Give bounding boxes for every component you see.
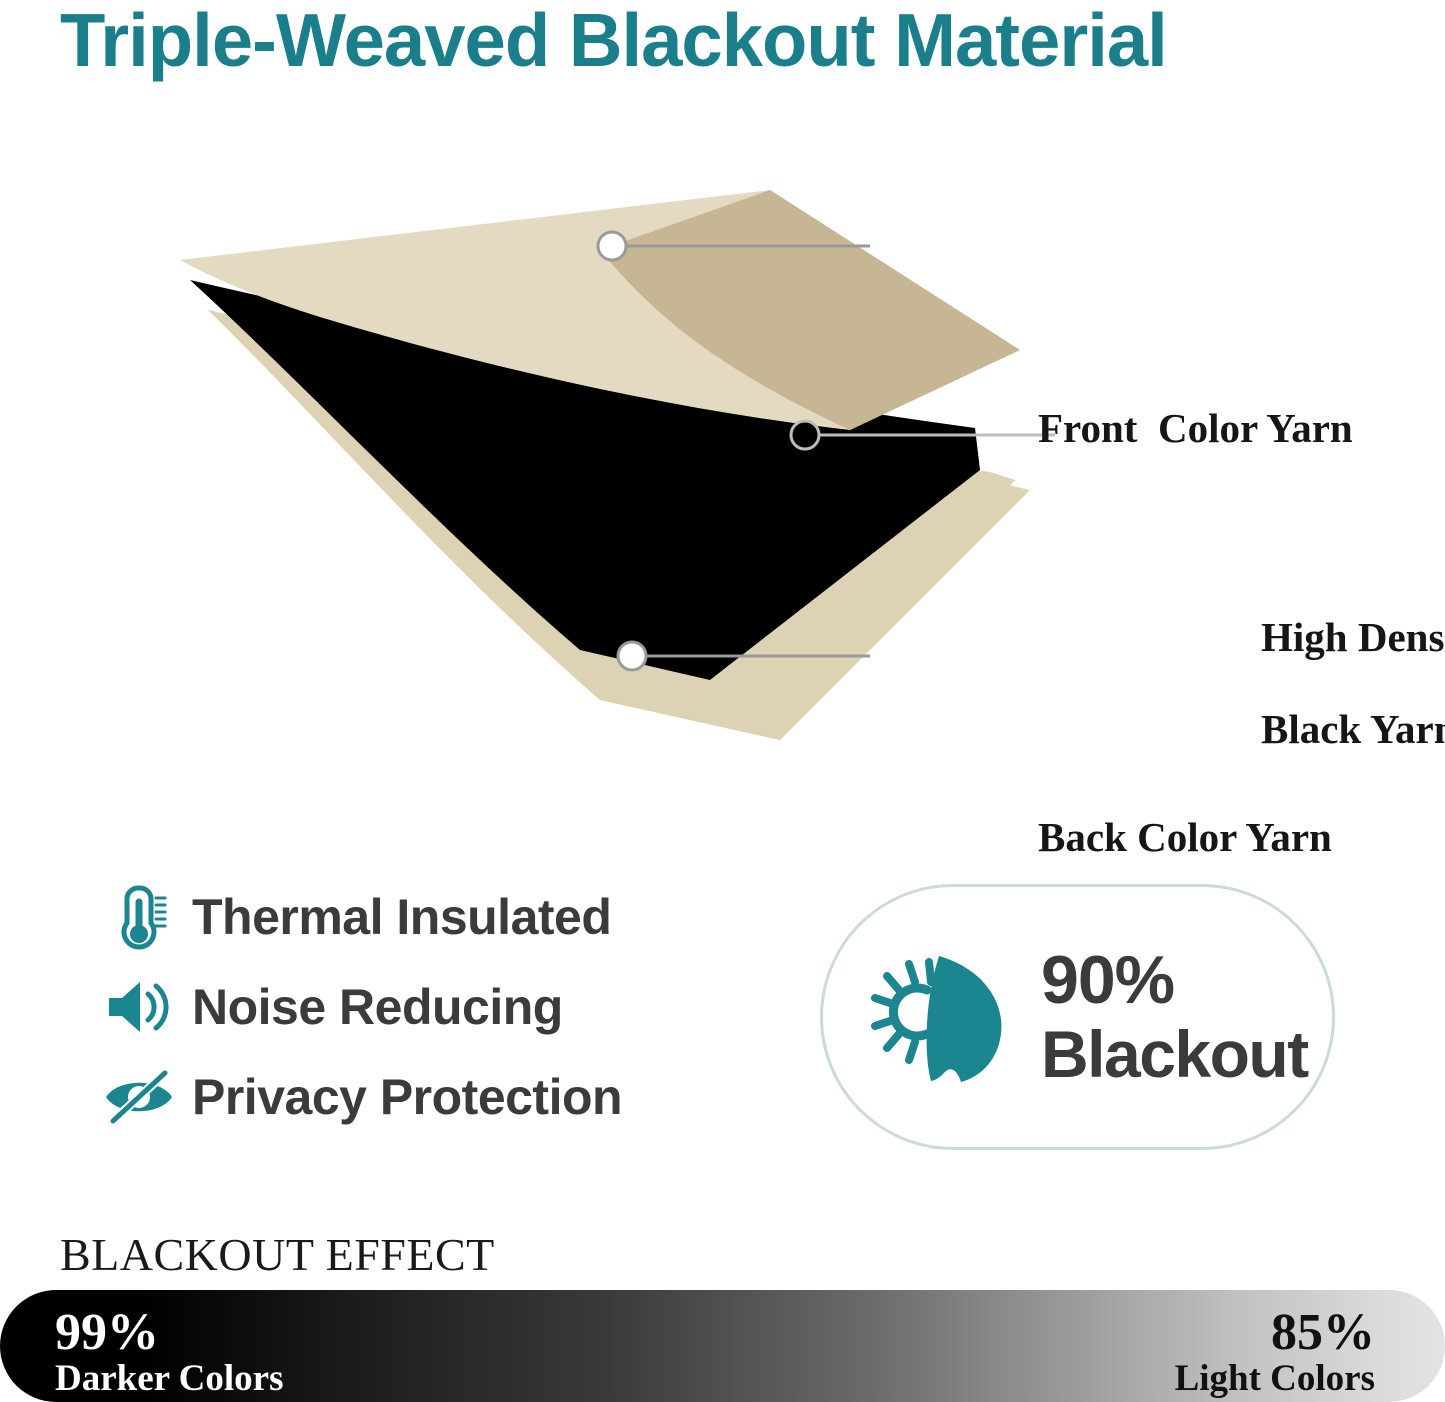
page-title: Triple-Weaved Blackout Material <box>60 0 1387 84</box>
blackout-percentage-badge: 90% Blackout <box>820 884 1335 1150</box>
sun-blocked-curtain-icon <box>855 932 1025 1102</box>
feature-item-noise-reducing: Noise Reducing <box>100 962 780 1052</box>
stat-light-caption: Light Colors <box>1175 1360 1375 1398</box>
badge-word: Blackout <box>1041 1017 1308 1091</box>
blackout-effect-heading: BLACKOUT EFFECT <box>60 1228 495 1281</box>
thermometer-icon <box>100 880 178 954</box>
stat-darker-caption: Darker Colors <box>55 1360 283 1398</box>
callout-label-front-color-yarn: Front Color Yarn <box>1038 405 1353 451</box>
callout-label-high-density-black-yarn: High Density Black Yarn <box>1220 568 1445 798</box>
stat-light-percent: 85% <box>1175 1306 1375 1360</box>
fabric-layers-diagram: Front Color Yarn High Density Black Yarn… <box>150 180 1350 740</box>
stat-light-colors: 85% Light Colors <box>1175 1306 1375 1399</box>
title-bar: Triple-Weaved Blackout Material <box>0 0 1445 90</box>
eye-slash-icon <box>100 1060 178 1134</box>
feature-item-thermal-insulated: Thermal Insulated <box>100 872 780 962</box>
feature-list: Thermal Insulated Noise Reducing <box>100 872 780 1142</box>
callout-label-line-2: Black Yarn <box>1261 706 1445 752</box>
feature-label-noise-reducing: Noise Reducing <box>192 978 563 1036</box>
stat-darker-colors: 99% Darker Colors <box>55 1306 283 1399</box>
stat-darker-percent: 99% <box>55 1306 283 1360</box>
feature-label-privacy-protection: Privacy Protection <box>192 1068 622 1126</box>
feature-item-privacy-protection: Privacy Protection <box>100 1052 780 1142</box>
callout-label-back-color-yarn: Back Color Yarn <box>1038 814 1332 860</box>
speaker-sound-icon <box>100 970 178 1044</box>
callout-label-line-1: High Density <box>1261 614 1445 660</box>
badge-text-block: 90% Blackout <box>1041 943 1308 1091</box>
badge-percent: 90% <box>1041 943 1308 1017</box>
feature-label-thermal-insulated: Thermal Insulated <box>192 888 611 946</box>
